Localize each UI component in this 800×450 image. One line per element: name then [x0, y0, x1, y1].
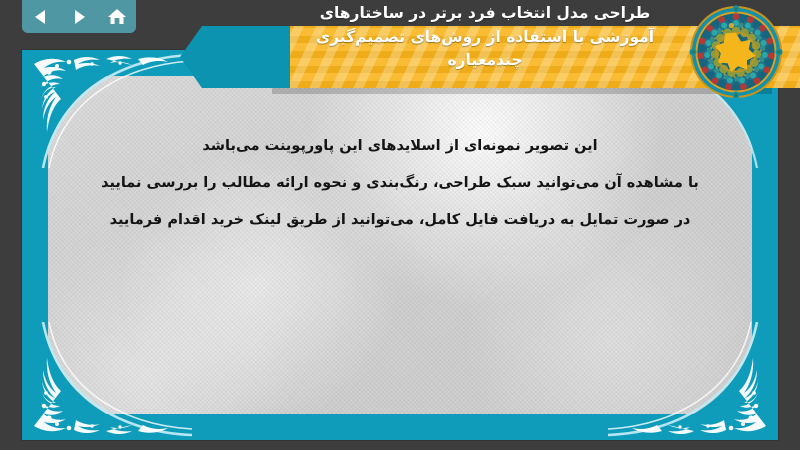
triangle-left-icon — [32, 8, 50, 26]
back-button[interactable] — [28, 5, 54, 29]
content-frame — [22, 50, 778, 440]
persian-medallion-icon — [688, 4, 784, 100]
body-line-2: با مشاهده آن می‌توانید سبک طراحی، رنگ‌بن… — [40, 165, 760, 202]
navigation-bar — [22, 0, 136, 33]
body-line-3: در صورت تمایل به دریافت فایل کامل، می‌تو… — [40, 202, 760, 239]
slide-body-text: این تصویر نمونه‌ای از اسلایدهای این پاور… — [40, 128, 760, 239]
title-line-1: طراحی مدل انتخاب فرد برتر در ساختارهای — [250, 2, 720, 26]
page-title: طراحی مدل انتخاب فرد برتر در ساختارهای آ… — [250, 2, 720, 94]
title-line-3: چندمعیاره — [250, 49, 720, 73]
presentation-slide: طراحی مدل انتخاب فرد برتر در ساختارهای آ… — [0, 0, 800, 450]
home-icon — [107, 8, 127, 26]
triangle-right-icon — [70, 8, 88, 26]
body-line-1: این تصویر نمونه‌ای از اسلایدهای این پاور… — [40, 128, 760, 165]
title-line-2: آموزشی با استفاده از روش‌های تصمیم‌گیری — [250, 26, 720, 50]
home-button[interactable] — [104, 5, 130, 29]
forward-button[interactable] — [66, 5, 92, 29]
content-surface — [48, 76, 752, 414]
